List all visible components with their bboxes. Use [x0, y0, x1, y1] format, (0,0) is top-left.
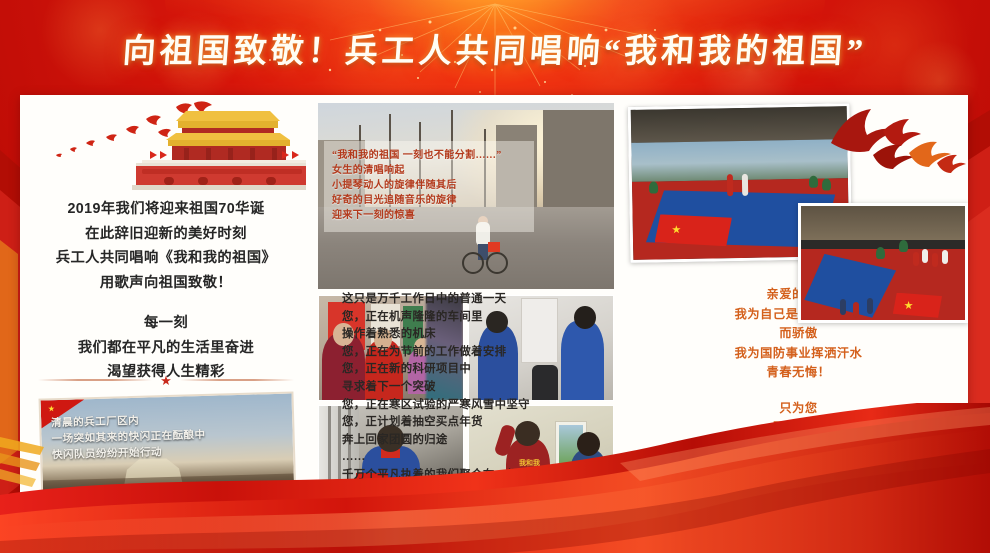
mid-line: 不变的初心和坚守 — [342, 502, 592, 520]
right-line: 只为您 — [625, 399, 968, 419]
page-title: 向祖国致敬！兵工人共同唱响“我和我的祖国” — [121, 24, 868, 72]
right-line: 青春无悔！ — [625, 363, 968, 383]
overlay-line: 好奇的目光追随音乐的旋律 — [332, 193, 526, 208]
mid-line: 您，正在机声隆隆的车间里 — [342, 309, 592, 327]
photo-gymnasium-flashmob-crowd: ★ — [798, 203, 968, 323]
mid-line: 您，正计划着抽空买点年货 — [342, 414, 592, 432]
right-column: ★ ★ — [621, 95, 968, 520]
flying-doves-icon — [821, 97, 966, 192]
street-photo-overlay-text: “我和我的祖国 一刻也不能分割……” 女生的清唱响起 小提琴动人的旋律伴随其后 … — [324, 141, 534, 232]
header-banner: 向祖国致敬！兵工人共同唱响“我和我的祖国” — [0, 0, 990, 95]
left-intro-text: 2019年我们将迎来祖国70华诞 在此辞旧迎新的美好时刻 兵工人共同唱响《我和我… — [20, 197, 312, 385]
mid-line: 您，正在新的科研项目中 — [342, 361, 592, 379]
divider-line-right — [180, 379, 294, 381]
photo-street-cyclist: “我和我的祖国 一刻也不能分割……” 女生的清唱响起 小提琴动人的旋律伴随其后 … — [318, 103, 614, 289]
mid-line: 奔上回家团圆的归途 — [342, 432, 592, 450]
overlay-line: 迎来下一刻的惊喜 — [332, 208, 526, 223]
mid-line: 您，正在为节前的工作做着安排 — [342, 344, 592, 362]
left-column: 2019年我们将迎来祖国70华诞 在此辞旧迎新的美好时刻 兵工人共同唱响《我和我… — [20, 95, 312, 520]
section-divider: ★ — [38, 373, 294, 387]
right-line: 我为国防事业挥洒汗水 — [625, 344, 968, 364]
mid-line: 这只是万千工作日中的普通一天 — [342, 291, 592, 309]
right-line: 繁荣昌盛 — [625, 438, 968, 458]
photo-building — [543, 110, 614, 207]
photo-caption: 清晨的兵工厂区内 一场突如其来的快闪正在酝酿中 快闪队员纷纷开始行动 — [51, 410, 285, 464]
left-line: 在此辞旧迎新的美好时刻 — [20, 222, 312, 247]
mid-line: 您，正在寒区试验的严寒风雪中坚守 — [342, 397, 592, 415]
poster-root: 向祖国致敬！兵工人共同唱响“我和我的祖国” — [0, 0, 990, 553]
content-card: 2019年我们将迎来祖国70华诞 在此辞旧迎新的美好时刻 兵工人共同唱响《我和我… — [20, 95, 968, 520]
mid-text-block: 这只是万千工作日中的普通一天 您，正在机声隆隆的车间里 操作着熟悉的机床 您，正… — [342, 291, 592, 520]
mid-line: 千万个平凡执着的我们聚合在一起 — [342, 467, 592, 485]
overlay-line: 小提琴动人的旋律伴随其后 — [332, 178, 526, 193]
left-line: 我们都在平凡的生活里奋进 — [20, 336, 312, 361]
right-line: 而骄傲 — [625, 324, 968, 344]
photo-treeline — [43, 473, 295, 506]
left-line: 兵工人共同唱响《我和我的祖国》 — [20, 246, 312, 271]
mid-line: …… — [342, 449, 592, 467]
overlay-line: “我和我的祖国 一刻也不能分割……” — [332, 148, 526, 163]
mid-line: 寻求着下一个突破 — [342, 379, 592, 397]
overlay-line: 女生的清唱响起 — [332, 163, 526, 178]
left-line: 2019年我们将迎来祖国70华诞 — [20, 197, 312, 222]
left-line: 每一刻 — [20, 311, 312, 336]
photo-factory-dawn: ★ 清晨的兵工厂区内 一场突如其来的快闪正在酝酿中 快闪队员纷纷开始行动 — [39, 391, 297, 508]
mid-line: 操作着熟悉的机床 — [342, 326, 592, 344]
tiananmen-gate-icon — [26, 99, 306, 191]
mid-line: 是兵工人对“铸国防利剑” — [342, 485, 592, 503]
gold-fold-accent — [0, 437, 60, 507]
divider-line-left — [38, 379, 152, 381]
left-line: 用歌声向祖国致敬！ — [20, 271, 312, 296]
star-icon: ★ — [160, 374, 172, 387]
right-line: 国泰民安 — [625, 418, 968, 438]
